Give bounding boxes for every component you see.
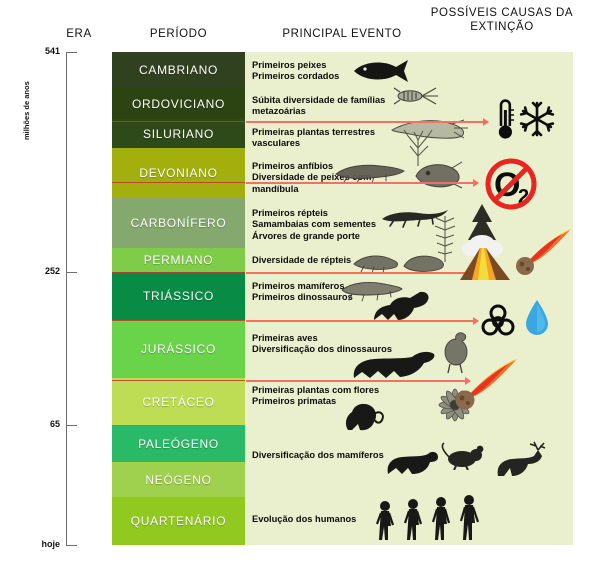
meteor-icon [512,226,574,281]
period-band-palegeno[interactable]: PALEÓGENO [112,425,245,462]
period-band-devoniano[interactable]: DEVONIANO [112,148,245,198]
period-label: QUARTENÁRIO [131,514,227,528]
period-label: PERMIANO [144,253,214,267]
snowflake-icon [518,100,556,143]
axis-line [66,52,67,545]
period-band-permiano[interactable]: PERMIANO [112,248,245,272]
axis-tick-mark [66,272,77,273]
extinction-arrow [246,121,488,123]
meteor-icon [454,356,520,415]
period-label: JURÁSSICO [141,342,216,356]
period-label: CAMBRIANO [139,63,218,77]
period-band-negeno[interactable]: NEÓGENO [112,462,245,497]
period-band-trissico[interactable]: TRIÁSSICO [112,272,245,320]
extinction-arrow [246,182,478,184]
rodent-silhouette-icon [438,442,486,470]
period-label: DEVONIANO [139,166,217,180]
human-evolution-icon [376,494,496,542]
header-periodo: PERÍODO [112,28,245,40]
axis-tick-label: 65 [18,419,60,429]
triceratops-silhouette-icon [348,348,438,382]
header-era: ERA [44,28,114,40]
axis-title-millions-of-years: milhões de anos [22,81,31,140]
extinction-boundary-rule [112,380,245,381]
header-causas-extincao: POSSÍVEIS CAUSAS DA EXTINÇÃO [412,6,592,34]
axis-tick-mark [66,425,77,426]
period-label: ORDOVICIANO [132,97,225,111]
trilobite-fossil-icon [392,83,448,109]
placoderm-fossil-icon [412,156,464,192]
bear-silhouette-icon [384,448,442,478]
biohazard-icon [478,300,518,345]
geologic-timescale-chart: ERA PERÍODO PRINCIPAL EVENTO POSSÍVEIS C… [0,0,600,570]
axis-tick-label: hoje [18,539,60,549]
hadrosaur-silhouette-icon [368,288,440,322]
axis-tick-mark [66,52,77,53]
header-principal-evento: PRINCIPAL EVENTO [252,28,432,40]
deer-silhouette-icon [490,440,546,480]
event-text: Primeiros peixes Primeiros cordados [252,60,442,83]
fish-fossil-icon [350,58,412,84]
extinction-boundary-rule [112,182,245,183]
period-label: SILURIANO [143,127,214,141]
permian-reptiles-icon [352,248,448,274]
period-band-ordoviciano[interactable]: ORDOVICIANO [112,88,245,119]
period-label: TRIÁSSICO [143,289,214,303]
period-label: CRETÁCEO [142,395,214,409]
period-band-siluriano[interactable]: SILURIANO [112,119,245,148]
extinction-boundary-rule [112,320,245,321]
period-band-carbonfero[interactable]: CARBONÍFERO [112,198,245,248]
extinction-arrow [246,380,470,382]
extinction-boundary-rule [112,121,245,122]
water-drop-icon [524,298,550,343]
extinction-arrow [246,272,478,274]
period-band-cambriano[interactable]: CAMBRIANO [112,52,245,88]
period-band-jurssico[interactable]: JURÁSSICO [112,320,245,378]
axis-tick-label: 252 [18,266,60,276]
amphibian-fossil-icon [330,158,408,184]
period-label: NEÓGENO [145,473,211,487]
header-causas-extincao-line2: EXTINÇÃO [412,20,592,34]
period-label: PALEÓGENO [138,437,219,451]
no-oxygen-icon: O 2 [480,158,542,215]
period-band-cretceo[interactable]: CRETÁCEO [112,378,245,425]
thermometer-icon [490,96,516,147]
header-causas-extincao-line1: POSSÍVEIS CAUSAS DA [412,6,592,20]
period-label: CARBONÍFERO [131,216,227,230]
axis-tick-label: 541 [18,46,60,56]
extinction-arrow [246,320,478,322]
volcano-icon [458,232,520,287]
axis-tick-mark [66,545,77,546]
extinction-boundary-rule [112,272,245,273]
period-band-quartenrio[interactable]: QUARTENÁRIO [112,497,245,545]
primate-silhouette-icon [338,400,388,432]
